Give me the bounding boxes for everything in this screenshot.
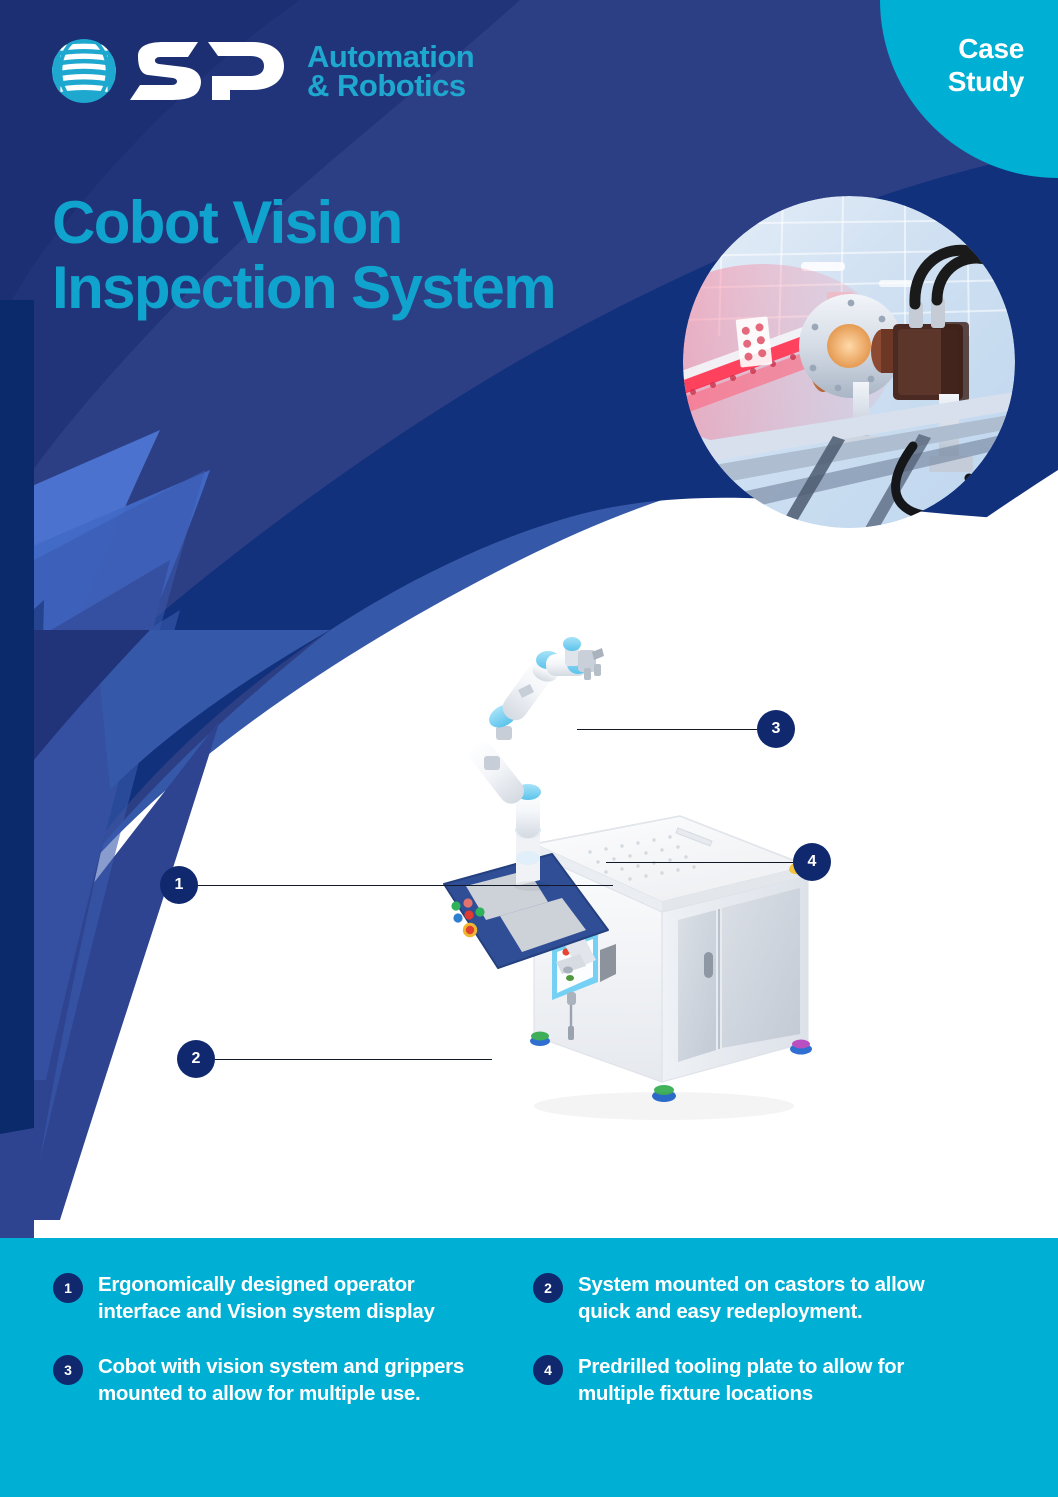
callout-2-leader-line	[215, 1059, 492, 1060]
tagline-line-2: & Robotics	[307, 71, 474, 100]
caption-grid: 1 Ergonomically designed operator interf…	[53, 1271, 1005, 1407]
callout-4-leader-line	[606, 862, 793, 863]
caption-1-number: 1	[53, 1273, 83, 1303]
product-diagram	[0, 630, 1058, 1170]
globe-icon	[46, 33, 122, 109]
caption-4-number: 4	[533, 1355, 563, 1385]
caption-item-1: 1 Ergonomically designed operator interf…	[53, 1271, 533, 1325]
callout-3-badge[interactable]: 3	[757, 710, 795, 748]
sp-monogram	[126, 40, 291, 102]
caption-2-number: 2	[533, 1273, 563, 1303]
caption-3-text: Cobot with vision system and grippers mo…	[98, 1353, 493, 1407]
case-study-line-1: Case	[948, 32, 1024, 65]
caption-band: 1 Ergonomically designed operator interf…	[0, 1238, 1058, 1497]
tagline-line-1: Automation	[307, 42, 474, 71]
caption-3-number: 3	[53, 1355, 83, 1385]
caption-1-text: Ergonomically designed operator interfac…	[98, 1271, 493, 1325]
case-study-line-2: Study	[948, 65, 1024, 98]
page-title: Cobot Vision Inspection System	[52, 191, 555, 321]
callout-2-badge[interactable]: 2	[177, 1040, 215, 1078]
caption-2-text: System mounted on castors to allow quick…	[578, 1271, 973, 1325]
case-study-page: Automation & Robotics Case Study Cobot V…	[0, 0, 1058, 1497]
hero-photo	[683, 196, 1015, 528]
brand-tagline: Automation & Robotics	[307, 42, 474, 101]
caption-item-3: 3 Cobot with vision system and grippers …	[53, 1353, 533, 1407]
callout-1-badge[interactable]: 1	[160, 866, 198, 904]
caption-item-2: 2 System mounted on castors to allow qui…	[533, 1271, 1005, 1325]
caption-4-text: Predrilled tooling plate to allow for mu…	[578, 1353, 973, 1407]
callout-3-leader-line	[577, 729, 757, 730]
callout-1-leader-line	[198, 885, 613, 886]
brand-logo: Automation & Robotics	[46, 33, 474, 109]
callout-4-badge[interactable]: 4	[793, 843, 831, 881]
caption-item-4: 4 Predrilled tooling plate to allow for …	[533, 1353, 1005, 1407]
case-study-label: Case Study	[948, 32, 1024, 98]
